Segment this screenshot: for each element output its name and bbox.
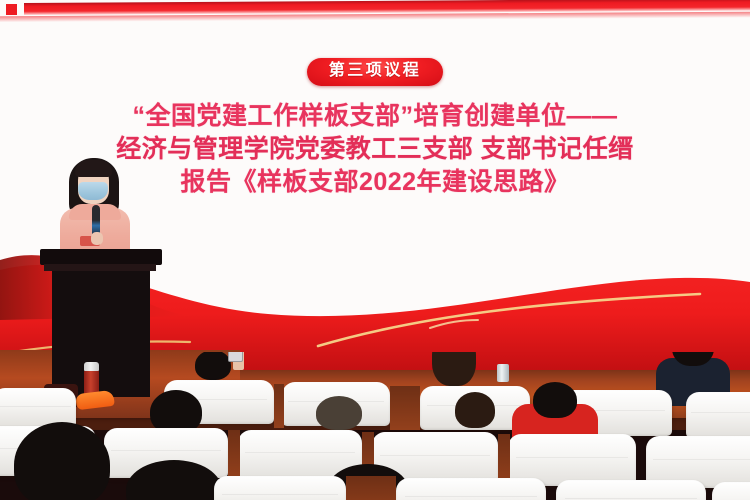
seat[interactable] <box>396 478 546 500</box>
top-bar-accent-square <box>6 4 17 15</box>
speaker-hand <box>91 232 103 245</box>
seat-row-gap <box>390 386 420 430</box>
agenda-badge: 第三项议程 <box>307 58 444 86</box>
audience-area <box>0 352 750 500</box>
conference-photo-scene: 第三项议程 “全国党建工作样板支部”培育创建单位—— 经济与管理学院党委教工三支… <box>0 0 750 500</box>
seat[interactable] <box>214 476 346 500</box>
seat[interactable] <box>686 392 750 438</box>
smartphone-icon <box>228 352 243 362</box>
seat-row-gap <box>228 430 240 480</box>
seat[interactable] <box>556 480 706 500</box>
podium-top <box>40 249 162 265</box>
attendee-head-foreground <box>14 422 110 500</box>
attendee-head <box>533 382 577 418</box>
water-cup <box>497 364 509 382</box>
attendee-head <box>432 352 476 386</box>
speaker-hair-front <box>75 160 112 177</box>
face-mask-icon <box>78 182 108 200</box>
attendee-head <box>195 352 231 380</box>
seat[interactable] <box>712 482 750 500</box>
seat-row-gap <box>274 384 284 428</box>
seat-row-gap <box>346 476 396 500</box>
attendee-head <box>316 396 362 430</box>
headline-line-1: “全国党建工作样板支部”培育创建单位—— <box>0 100 750 133</box>
attendee-head <box>455 392 495 428</box>
podium-lip <box>44 264 156 271</box>
